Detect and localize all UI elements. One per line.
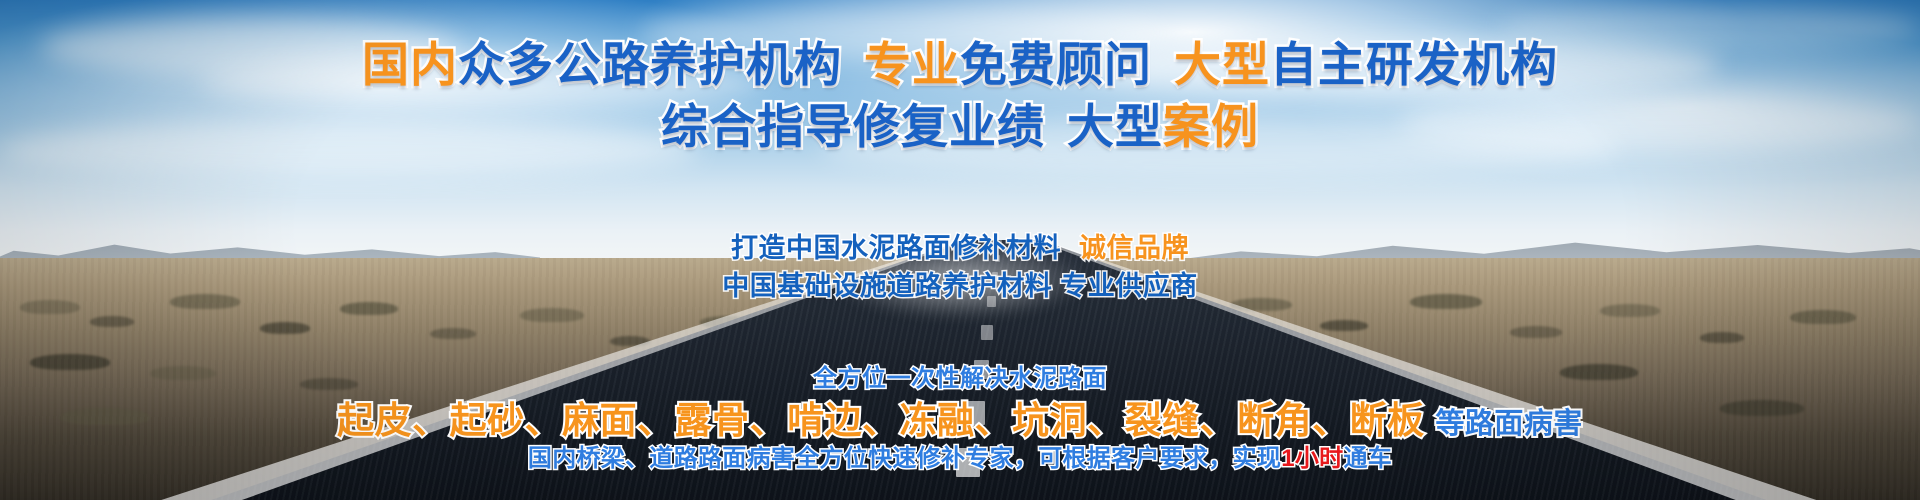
roadtext1-run-0: 全方位一次性解决水泥路面 [813,365,1107,392]
roadside-shrub [1700,332,1744,343]
headline2-run-0: 综合指导修复业绩 [661,100,1045,153]
headline1-run-3: 专业 [864,38,960,91]
roadside-shrub [1510,326,1562,338]
headline-line-1: 国内众多公路养护机构专业免费顾问大型自主研发机构 [0,40,1920,89]
subhead-line-1: 打造中国水泥路面修补材料诚信品牌 [0,228,1920,270]
promo-banner: 国内众多公路养护机构专业免费顾问大型自主研发机构 综合指导修复业绩大型案例 打造… [0,0,1920,500]
headline2-run-2: 大型 [1067,100,1163,153]
lane-dash [981,325,993,340]
roadside-shrub [520,308,584,322]
road-text-line-1: 全方位一次性解决水泥路面 [0,358,1920,393]
headline1-run-1: 众多公路养护机构 [458,38,842,91]
roadside-shrub [1790,310,1856,324]
roadtext3-run-2: 通车 [1343,445,1392,472]
headline1-run-7: 自主研发机构 [1270,38,1558,91]
roadside-shrub [1320,320,1368,331]
road-text-line-3: 国内桥梁、道路路面病害全方位快速修补专家，可根据客户要求，实现1小时通车 [0,438,1920,473]
headline1-run-0: 国内 [362,38,458,91]
roadtext2-run-2: 等路面病害 [1435,408,1583,440]
roadtext3-run-0: 国内桥梁、道路路面病害全方位快速修补专家，可根据客户要求，实现 [528,445,1281,472]
headline1-run-6: 大型 [1174,38,1270,91]
roadtext2-run-1 [1425,400,1436,441]
subhead2-run-0: 中国基础设施道路养护材料 [722,271,1052,301]
headline1-run-4: 免费顾问 [960,38,1152,91]
roadside-shrub [90,316,134,327]
roadtext3-run-1: 1小时 [1281,445,1343,472]
subhead2-run-2: 专业供应商 [1060,271,1198,301]
road-text-line-2: 起皮、起砂、麻面、露骨、啃边、冻融、坑洞、裂缝、断角、断板 等路面病害 [0,390,1920,444]
roadside-shrub [260,322,310,334]
subhead-line-2: 中国基础设施道路养护材料 专业供应商 [0,266,1920,308]
subhead1-run-0: 打造中国水泥路面修补材料 [731,233,1061,263]
roadtext2-run-0: 起皮、起砂、麻面、露骨、啃边、冻融、坑洞、裂缝、断角、断板 [337,400,1425,441]
subhead1-run-2: 诚信品牌 [1079,233,1189,263]
headline-line-2: 综合指导修复业绩大型案例 [0,102,1920,151]
roadside-shrub [430,328,476,339]
headline2-run-3: 案例 [1163,100,1259,153]
